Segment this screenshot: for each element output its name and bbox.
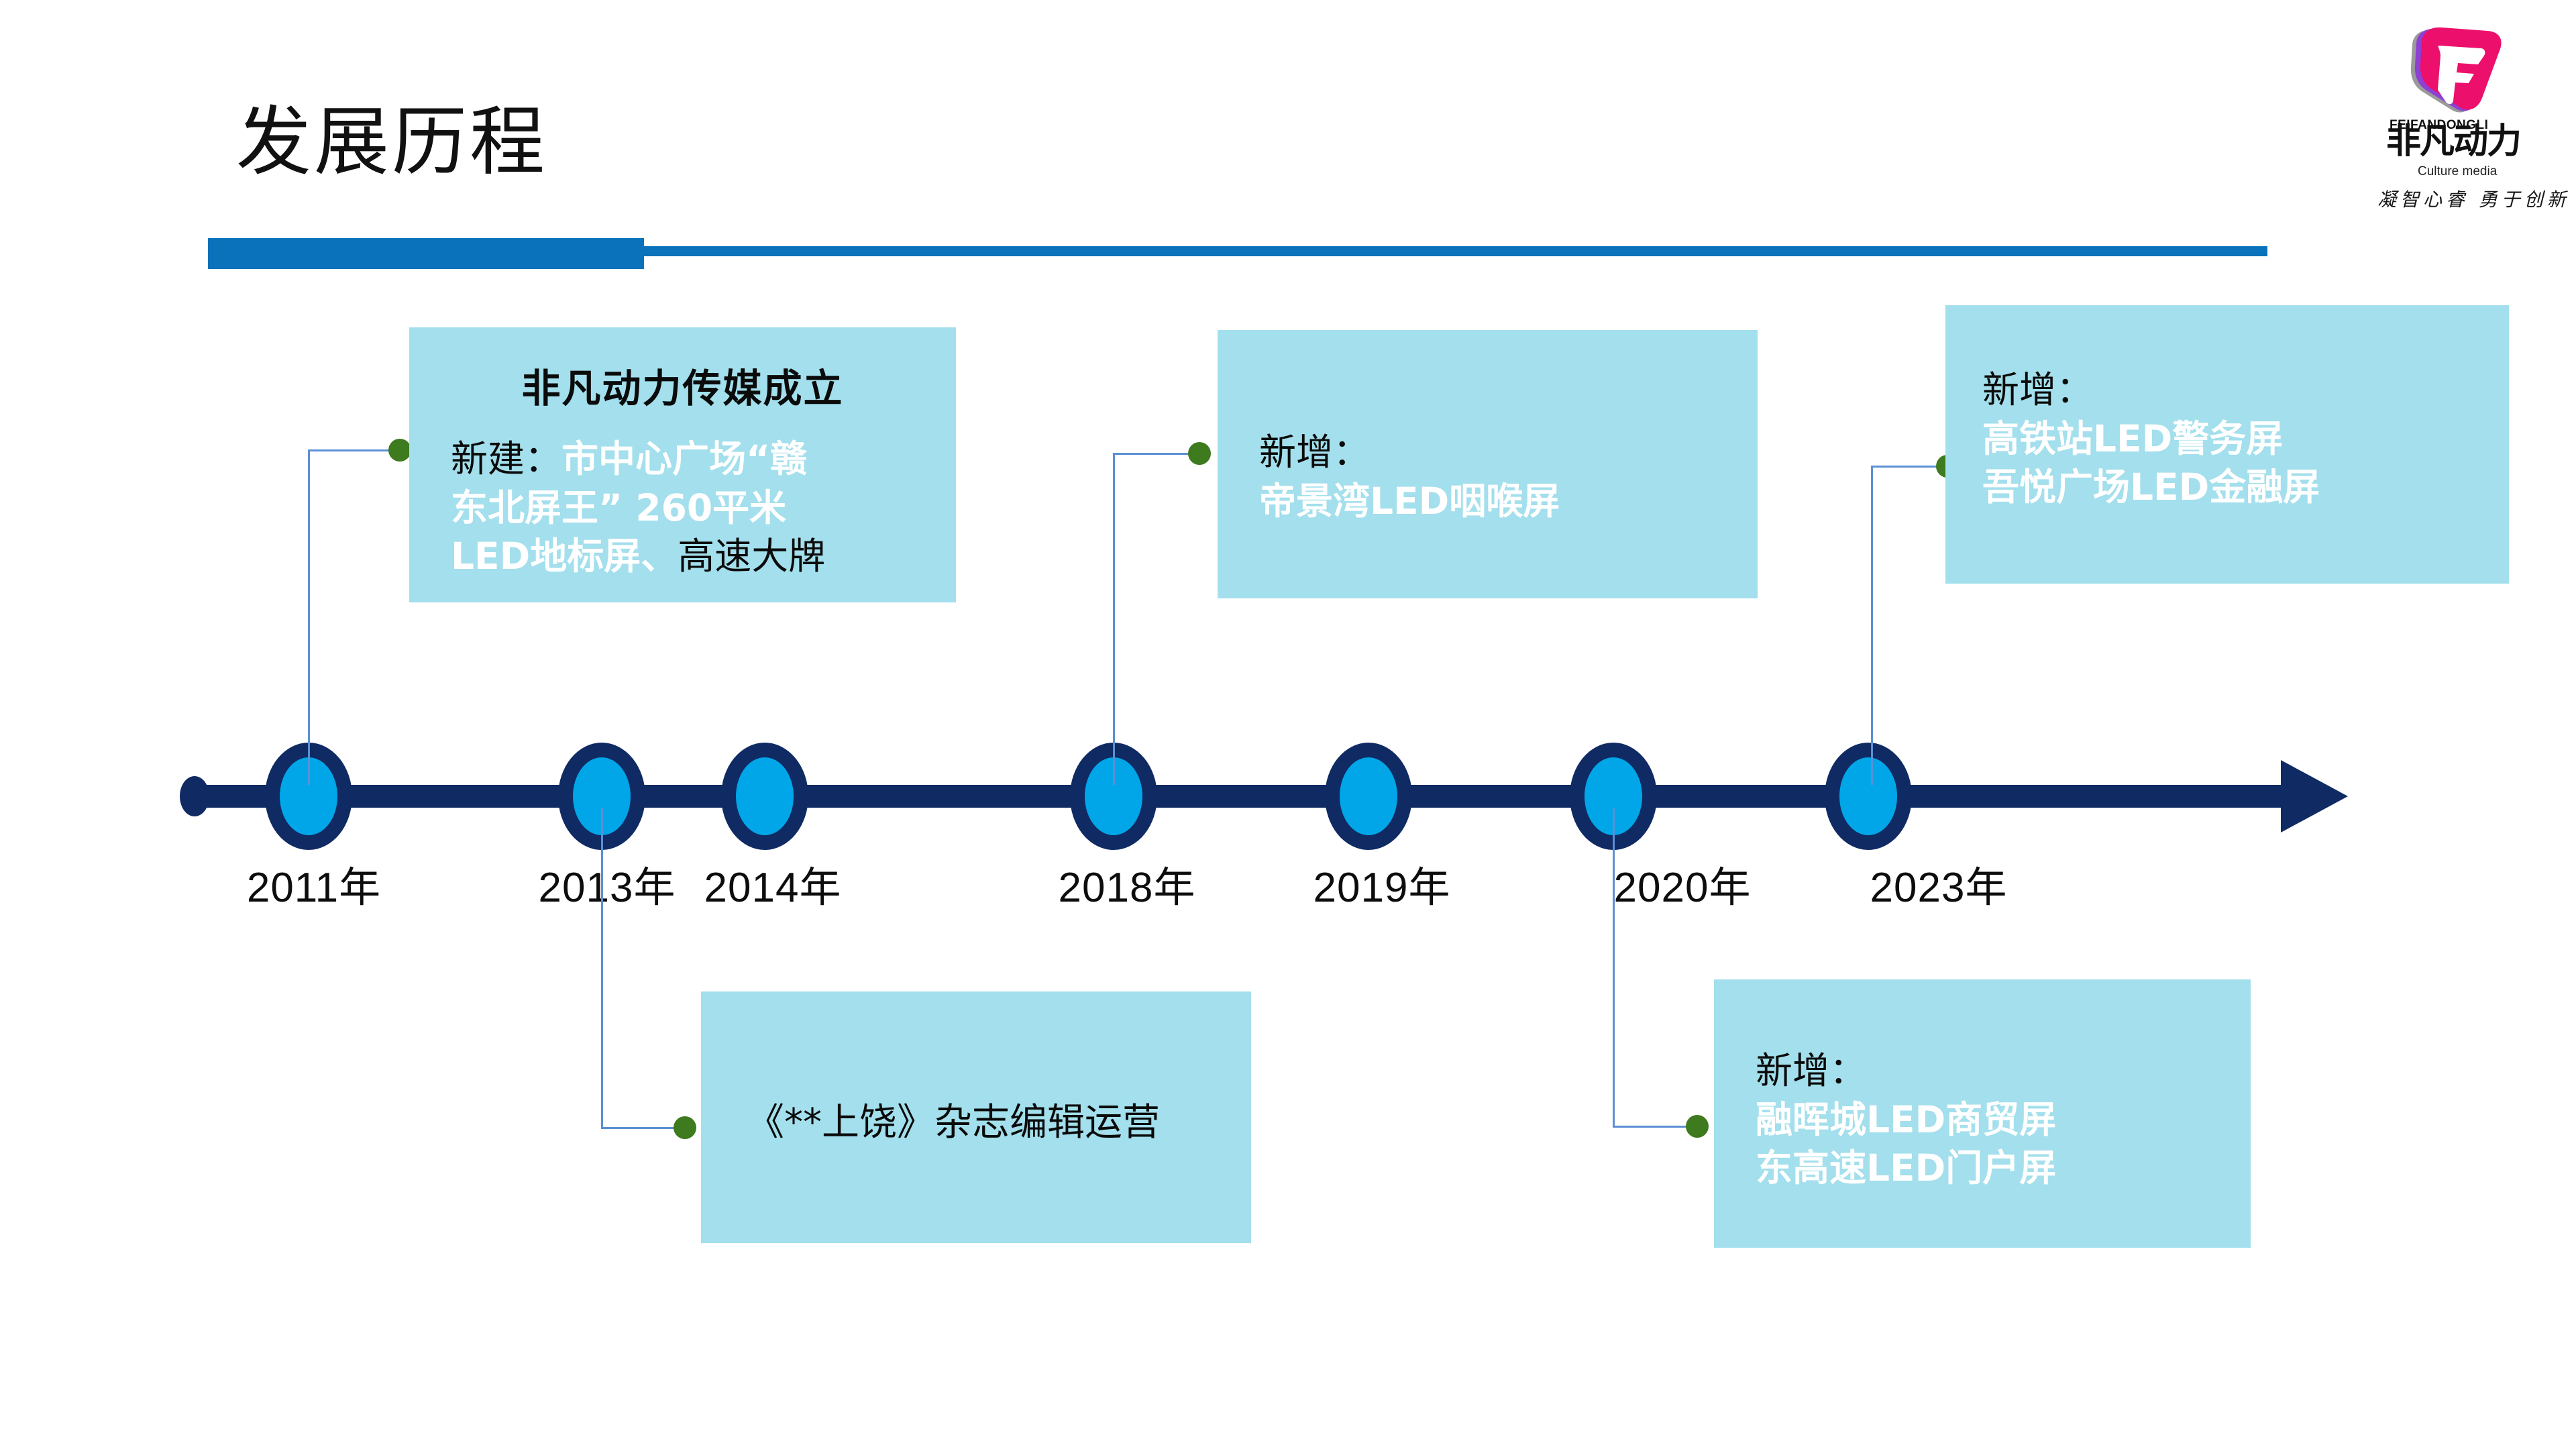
card-2018[interactable]: 新增： 帝景湾LED咽喉屏 xyxy=(1218,330,1758,598)
card-2011-line-1-seg-2: 市中心广场“赣 xyxy=(561,437,807,480)
logo-wordmark-cn: 非凡动力 xyxy=(2386,124,2520,159)
connector-line-2011-horizontal xyxy=(308,449,392,451)
title-underline-line xyxy=(644,246,2267,256)
year-label-2019: 2019年 xyxy=(1313,853,1451,914)
card-2023-line-2-seg-1: 高铁站LED警务屏 xyxy=(1982,417,2283,460)
connector-dot-2011 xyxy=(388,439,411,462)
card-2018-line-2: 帝景湾LED咽喉屏 xyxy=(1259,477,1740,526)
card-2011-line-2: 东北屏王” 260平米 xyxy=(451,484,938,533)
company-logo: FEIFANDONGLI 非凡动力 Culture media 凝智心睿 勇于创… xyxy=(2383,25,2551,227)
card-2023-line-3-seg-1: 吾悦广场LED金融屏 xyxy=(1982,466,2320,508)
card-2013[interactable]: 《**上饶》杂志编辑运营 xyxy=(701,991,1251,1243)
card-2011-body: 新建：市中心广场“赣 东北屏王” 260平米 LED地标屏、高速大牌 xyxy=(409,435,956,581)
card-2023-line-1-seg-1: 新增： xyxy=(1982,368,2093,411)
card-2013-line-1: 《**上饶》杂志编辑运营 xyxy=(747,1099,1234,1148)
card-2020-line-2-seg-1: 融晖城LED商贸屏 xyxy=(1756,1098,2056,1141)
card-2018-line-1-seg-1: 新增： xyxy=(1259,431,1370,474)
card-2018-line-2-seg-1: 帝景湾LED咽喉屏 xyxy=(1259,480,1560,523)
card-2020-line-3: 东高速LED门户屏 xyxy=(1756,1144,2233,1193)
card-2013-line-1-seg-1: 《**上饶》杂志编辑运营 xyxy=(747,1101,1160,1144)
card-2023-line-3: 吾悦广场LED金融屏 xyxy=(1982,463,2497,512)
card-2013-body: 《**上饶》杂志编辑运营 xyxy=(701,1099,1251,1148)
card-2020-line-3-seg-1: 东高速LED门户屏 xyxy=(1756,1146,2056,1189)
card-2020-line-2: 融晖城LED商贸屏 xyxy=(1756,1095,2233,1144)
timeline-node-2019[interactable] xyxy=(1325,743,1412,850)
year-label-2014: 2014年 xyxy=(704,853,842,914)
card-2023-line-1: 新增： xyxy=(1982,366,2497,415)
card-2011-line-1: 新建：市中心广场“赣 xyxy=(451,435,938,484)
slide-canvas: 发展历程 FEIFANDONGLI 非凡动力 Culture media 凝智心… xyxy=(0,0,2576,1449)
logo-subtitle-en: Culture media xyxy=(2418,164,2497,179)
card-2011-line-2-seg-1: 东北屏王” 260平米 xyxy=(451,486,786,529)
card-2023-line-2: 高铁站LED警务屏 xyxy=(1982,415,2497,464)
card-2018-line-1: 新增： xyxy=(1259,428,1740,477)
card-2020[interactable]: 新增： 融晖城LED商贸屏 东高速LED门户屏 xyxy=(1714,979,2251,1248)
connector-dot-2020 xyxy=(1686,1115,1709,1138)
card-2011-line-3-seg-2: 高速大牌 xyxy=(678,535,825,578)
connector-line-2020-horizontal xyxy=(1613,1126,1697,1128)
connector-line-2018-vertical xyxy=(1113,453,1115,785)
feifandongli-f-logo-icon xyxy=(2396,25,2504,119)
year-label-2023: 2023年 xyxy=(1870,853,2008,914)
page-title: 发展历程 xyxy=(236,101,547,183)
year-label-2020: 2020年 xyxy=(1614,853,1752,914)
card-2023-body: 新增： 高铁站LED警务屏 吾悦广场LED金融屏 xyxy=(1945,366,2509,512)
title-underline-block xyxy=(208,238,644,269)
card-2011-line-1-seg-1: 新建： xyxy=(451,437,561,480)
card-2020-line-1-seg-1: 新增： xyxy=(1756,1049,1866,1092)
timeline-node-2014[interactable] xyxy=(721,743,808,850)
card-2011-line-3-seg-1: LED地标屏、 xyxy=(451,535,678,578)
connector-line-2018-horizontal xyxy=(1113,453,1197,455)
timeline-axis-line xyxy=(184,785,2318,808)
connector-dot-2018 xyxy=(1188,442,1211,465)
card-2020-body: 新增： 融晖城LED商贸屏 东高速LED门户屏 xyxy=(1714,1046,2251,1193)
logo-tagline: 凝智心睿 勇于创新 xyxy=(2377,185,2570,212)
connector-line-2023-vertical xyxy=(1871,466,1873,785)
card-shadow-2011 xyxy=(392,597,956,639)
card-2023[interactable]: 新增： 高铁站LED警务屏 吾悦广场LED金融屏 xyxy=(1945,305,2509,584)
connector-line-2020-vertical xyxy=(1613,808,1615,1127)
timeline-axis-arrow-icon xyxy=(2281,760,2348,833)
connector-line-2013-vertical xyxy=(601,808,603,1128)
card-2020-line-1: 新增： xyxy=(1756,1046,2233,1095)
year-label-2011: 2011年 xyxy=(247,853,381,914)
year-label-2018: 2018年 xyxy=(1059,853,1196,914)
year-label-2013: 2013年 xyxy=(539,853,676,914)
card-2011[interactable]: 非凡动力传媒成立 新建：市中心广场“赣 东北屏王” 260平米 LED地标屏、高… xyxy=(409,327,956,602)
connector-line-2013-horizontal xyxy=(601,1127,685,1129)
timeline-node-2023[interactable] xyxy=(1825,743,1912,850)
connector-dot-2013 xyxy=(674,1116,696,1139)
card-shadow-2013 xyxy=(694,1238,1258,1279)
connector-line-2011-vertical xyxy=(308,449,310,785)
card-2011-line-3: LED地标屏、高速大牌 xyxy=(451,532,938,581)
card-2011-title: 非凡动力传媒成立 xyxy=(409,357,956,413)
card-2018-body: 新增： 帝景湾LED咽喉屏 xyxy=(1218,428,1758,525)
